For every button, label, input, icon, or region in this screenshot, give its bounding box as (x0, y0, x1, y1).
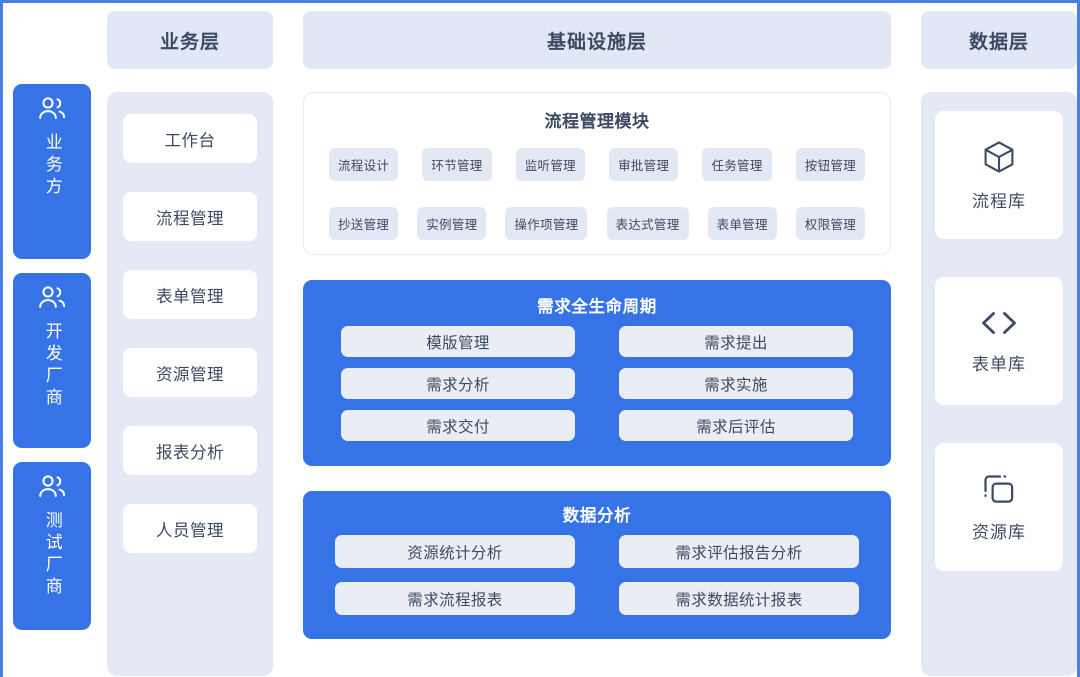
data-card-label: 流程库 (972, 187, 1026, 212)
copy-squares-icon (980, 471, 1018, 507)
analytics-grid: 资源统计分析 需求评估报告分析 需求流程报表 需求数据统计报表 (335, 535, 859, 615)
role-card-business-party[interactable]: 业务方 (13, 84, 91, 259)
diagram-board: 业务方 开发厂商 (3, 3, 1077, 677)
role-card-test-vendor[interactable]: 测试厂商 (13, 462, 91, 630)
role-label: 开发厂商 (42, 322, 62, 410)
business-layer-column: 业务层 工作台 流程管理 表单管理 资源管理 报表分析 人员管理 (107, 11, 273, 676)
lifecycle-requirement-delivery[interactable]: 需求交付 (341, 410, 575, 441)
code-brackets-icon (978, 307, 1020, 339)
lifecycle-template-management[interactable]: 模版管理 (341, 326, 575, 357)
tag-permission-management[interactable]: 权限管理 (796, 207, 865, 240)
business-layer-header: 业务层 (107, 11, 273, 69)
analytics-requirement-process-report[interactable]: 需求流程报表 (335, 582, 575, 615)
analytics-resource-statistics[interactable]: 资源统计分析 (335, 535, 575, 568)
lifecycle-title: 需求全生命周期 (341, 293, 853, 317)
tag-button-management[interactable]: 按钮管理 (796, 148, 865, 181)
business-item-process-management[interactable]: 流程管理 (123, 192, 257, 241)
roles-rail: 业务方 开发厂商 (13, 84, 91, 630)
data-card-label: 资源库 (972, 518, 1026, 543)
flow-module-tag-row-1: 流程设计 环节管理 监听管理 审批管理 任务管理 按钮管理 (318, 148, 876, 181)
lifecycle-requirement-analysis[interactable]: 需求分析 (341, 368, 575, 399)
role-card-dev-vendor[interactable]: 开发厂商 (13, 273, 91, 448)
requirement-lifecycle-panel: 需求全生命周期 模版管理 需求提出 需求分析 需求实施 需求交付 需求后评估 (303, 280, 891, 466)
lifecycle-post-requirement-evaluation[interactable]: 需求后评估 (619, 410, 853, 441)
infrastructure-layer-body: 流程管理模块 流程设计 环节管理 监听管理 审批管理 任务管理 按钮管理 抄送管… (303, 92, 891, 676)
flow-module-tag-row-2: 抄送管理 实例管理 操作项管理 表达式管理 表单管理 权限管理 (318, 207, 876, 240)
data-layer-body: 流程库 表单库 (921, 92, 1077, 676)
users-icon (37, 285, 67, 316)
cube-box-icon (980, 138, 1018, 176)
lifecycle-grid: 模版管理 需求提出 需求分析 需求实施 需求交付 需求后评估 (341, 326, 853, 441)
tag-operation-item-management[interactable]: 操作项管理 (505, 207, 587, 240)
architecture-diagram: 业务方 开发厂商 (0, 0, 1080, 677)
business-item-workbench[interactable]: 工作台 (123, 114, 257, 163)
flow-module-title: 流程管理模块 (318, 107, 876, 132)
business-item-personnel-management[interactable]: 人员管理 (123, 504, 257, 553)
tag-form-management[interactable]: 表单管理 (708, 207, 777, 240)
infrastructure-layer-header: 基础设施层 (303, 11, 891, 69)
business-layer-body: 工作台 流程管理 表单管理 资源管理 报表分析 人员管理 (107, 92, 273, 676)
business-item-resource-management[interactable]: 资源管理 (123, 348, 257, 397)
role-label: 业务方 (42, 133, 62, 199)
tag-instance-management[interactable]: 实例管理 (417, 207, 486, 240)
tag-expression-management[interactable]: 表达式管理 (607, 207, 689, 240)
business-item-form-management[interactable]: 表单管理 (123, 270, 257, 319)
tag-task-management[interactable]: 任务管理 (702, 148, 771, 181)
tag-node-management[interactable]: 环节管理 (422, 148, 491, 181)
analytics-evaluation-report[interactable]: 需求评估报告分析 (619, 535, 859, 568)
tag-approval-management[interactable]: 审批管理 (609, 148, 678, 181)
data-card-form-repository[interactable]: 表单库 (935, 277, 1063, 405)
users-icon (37, 474, 67, 505)
data-card-label: 表单库 (972, 350, 1026, 375)
analytics-title: 数据分析 (335, 502, 859, 526)
data-card-resource-repository[interactable]: 资源库 (935, 443, 1063, 571)
role-label: 测试厂商 (42, 511, 62, 599)
lifecycle-requirement-submission[interactable]: 需求提出 (619, 326, 853, 357)
data-layer-column: 数据层 流程库 (921, 11, 1080, 676)
lifecycle-requirement-implementation[interactable]: 需求实施 (619, 368, 853, 399)
analytics-requirement-data-report[interactable]: 需求数据统计报表 (619, 582, 859, 615)
tag-cc-management[interactable]: 抄送管理 (329, 207, 398, 240)
users-icon (37, 96, 67, 127)
data-layer-header: 数据层 (921, 11, 1077, 69)
tag-process-design[interactable]: 流程设计 (329, 148, 398, 181)
data-analytics-panel: 数据分析 资源统计分析 需求评估报告分析 需求流程报表 需求数据统计报表 (303, 491, 891, 639)
infrastructure-layer-column: 基础设施层 流程管理模块 流程设计 环节管理 监听管理 审批管理 任务管理 按钮… (303, 11, 891, 676)
business-item-report-analysis[interactable]: 报表分析 (123, 426, 257, 475)
tag-listener-management[interactable]: 监听管理 (516, 148, 585, 181)
data-card-process-repository[interactable]: 流程库 (935, 111, 1063, 239)
flow-management-module-card: 流程管理模块 流程设计 环节管理 监听管理 审批管理 任务管理 按钮管理 抄送管… (303, 92, 891, 255)
